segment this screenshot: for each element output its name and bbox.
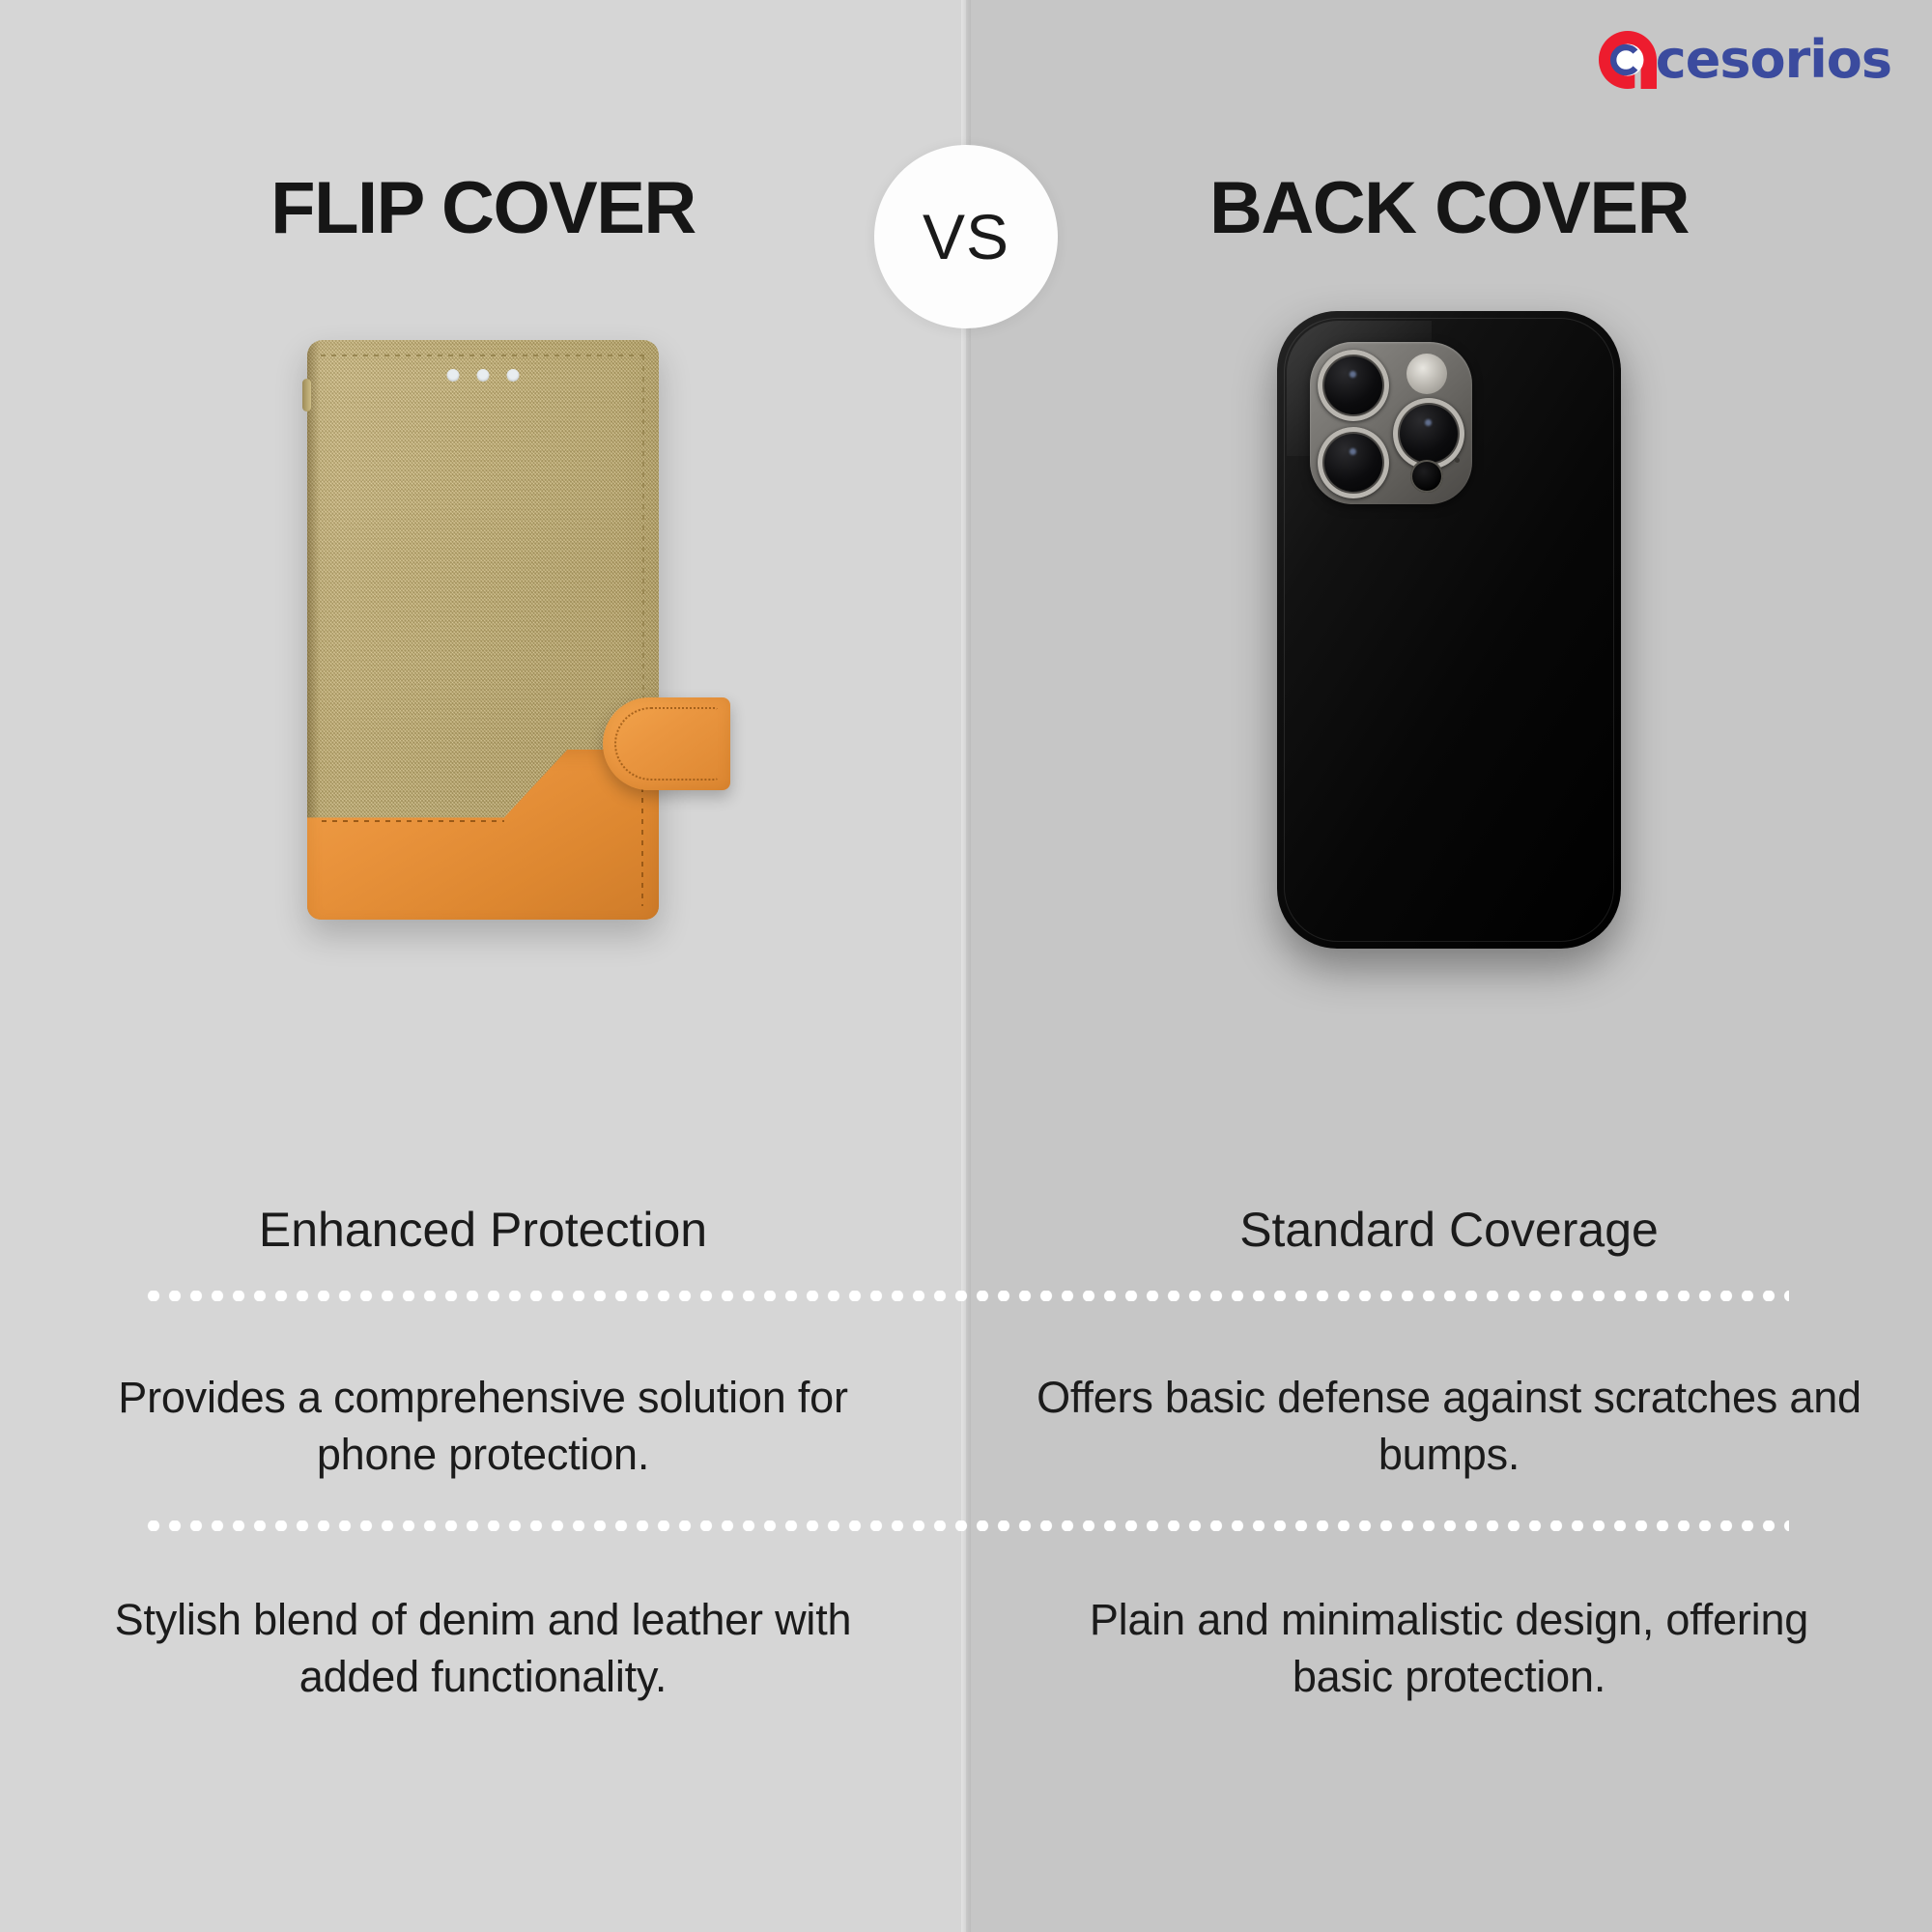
flip-cover-image [307,340,659,920]
flip-cover-hinge [302,379,311,412]
dotted-divider-1 [143,1291,1789,1301]
feature-flip-2: Stylish blend of denim and leather with … [68,1592,898,1705]
camera-flash-icon [1406,354,1447,394]
camera-lens-right [1393,398,1464,469]
back-cover-shell [1277,311,1621,949]
flip-cover-magnetic-clasp [603,697,730,790]
flip-cover-denim-body [307,340,659,920]
vs-badge-label: VS [923,200,1009,273]
lidar-sensor-icon [1410,460,1443,493]
headline-back-cover: BACK COVER [1024,162,1874,255]
acesorios-a-mark-icon [1596,28,1660,92]
feature-flip-1: Provides a comprehensive solution for ph… [68,1370,898,1483]
camera-lens-bottom-left [1318,427,1389,498]
back-cover-image [1277,311,1621,949]
dotted-divider-2 [143,1520,1789,1531]
flip-cover-product-stage [0,367,966,869]
feature-back-1: Offers basic defense against scratches a… [1034,1370,1864,1483]
brand-logo[interactable]: cesorios [1596,25,1891,95]
camera-module-icon [1310,342,1472,504]
subtitle-flip-cover: Enhanced Protection [58,1196,908,1264]
feature-back-2: Plain and minimalistic design, offering … [1034,1592,1864,1705]
camera-lens-top-left [1318,350,1389,421]
back-cover-product-stage [966,367,1932,869]
headline-flip-cover: FLIP COVER [58,162,908,255]
flip-cover-leather-stitching [307,750,659,920]
vs-badge: VS [874,145,1058,328]
brand-wordmark: cesorios [1656,34,1891,86]
flip-cover-magnet-dots [447,369,520,382]
subtitle-back-cover: Standard Coverage [1024,1196,1874,1264]
microphone-dot-icon [1455,458,1460,463]
flip-cover-top-stitching [321,355,645,356]
comparison-infographic: cesorios FLIP COVER BACK COVER VS [0,0,1932,1932]
